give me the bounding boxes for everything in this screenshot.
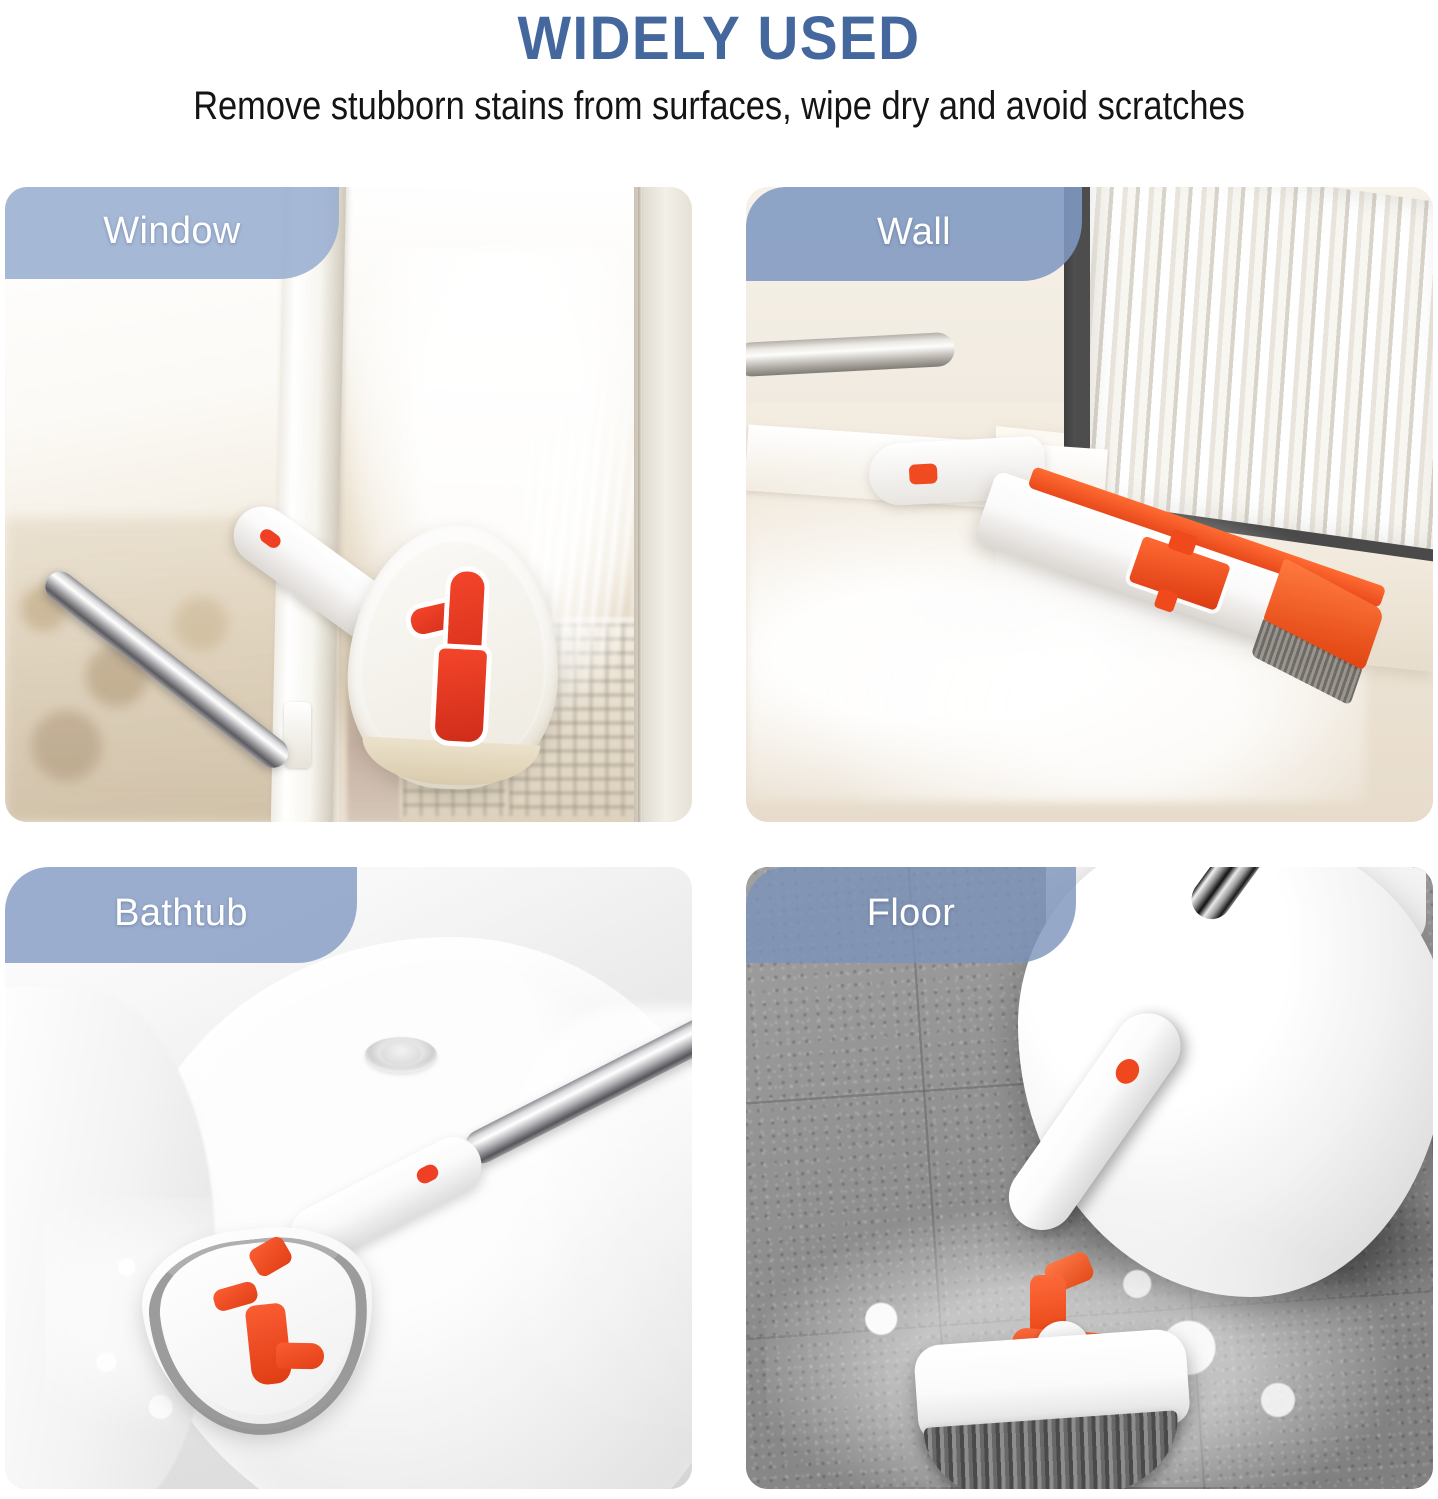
use-case-panel-floor[interactable]: Floor — [746, 867, 1433, 1489]
use-case-panel-bathtub[interactable]: Bathtub — [5, 867, 692, 1489]
bathtub-drain — [365, 1037, 437, 1073]
page-subtitle: Remove stubborn stains from surfaces, wi… — [101, 82, 1338, 130]
panel-label-text: Bathtub — [114, 892, 248, 935]
page-title: WIDELY USED — [50, 2, 1387, 74]
panel-label-wall: Wall — [746, 187, 1082, 281]
brush-pivot-clip — [428, 570, 503, 745]
header: WIDELY USED Remove stubborn stains from … — [0, 0, 1438, 168]
use-case-panel-wall[interactable]: Wall — [746, 187, 1433, 822]
panel-label-floor: Floor — [746, 867, 1076, 963]
brush-head-bristle — [916, 1337, 1206, 1489]
panel-label-text: Window — [103, 210, 241, 253]
use-case-panel-window[interactable]: Window — [5, 187, 692, 822]
panel-label-text: Wall — [877, 211, 951, 254]
use-case-grid: Window — [5, 187, 1433, 1489]
brush-pivot-clip — [220, 1238, 315, 1396]
panel-label-text: Floor — [867, 892, 956, 935]
window-right-frame — [634, 187, 692, 822]
window-latch — [284, 702, 311, 768]
brush-head-scrubber-pad — [135, 1218, 385, 1441]
brush-head-sponge — [338, 511, 572, 794]
widely-used-infographic: WIDELY USED Remove stubborn stains from … — [0, 0, 1438, 1499]
panel-label-window: Window — [5, 187, 339, 279]
panel-label-bathtub: Bathtub — [5, 867, 357, 963]
